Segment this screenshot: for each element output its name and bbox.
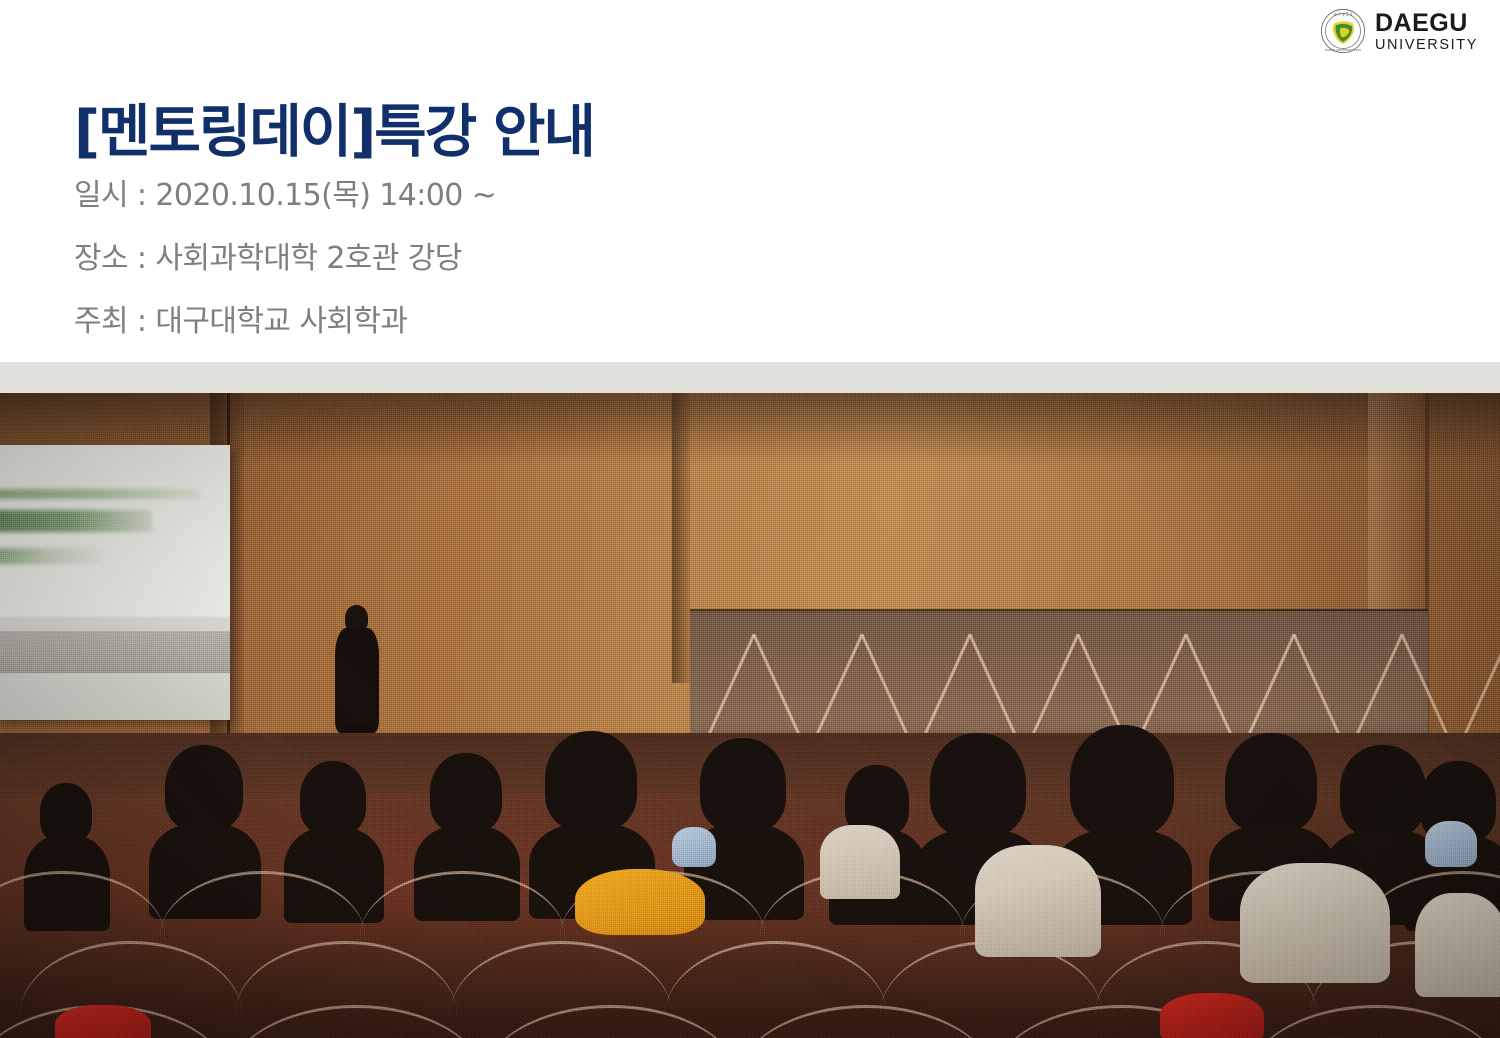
photo-audience-element <box>1425 821 1477 867</box>
event-info-datetime: 일시 : 2020.10.15(목) 14:00 ~ <box>74 170 496 214</box>
photo-audience-element <box>820 825 900 899</box>
university-logo: 대 구 대 학 교 DAEGU UNIVERSITY 1956 DAEGU UN… <box>1320 8 1478 54</box>
photo-audience-element <box>1160 993 1264 1038</box>
photo-screen-text-line-3 <box>0 548 104 564</box>
photo-audience-element <box>1070 725 1174 837</box>
photo-projection-screen <box>0 445 230 720</box>
photo-audience-element <box>930 733 1026 837</box>
photo-audience-element <box>545 731 637 831</box>
lecture-hall-photo <box>0 393 1500 1038</box>
photo-audience-element <box>672 827 716 867</box>
photo-screen-text-line-1 <box>0 489 200 499</box>
event-info-host: 주최 : 대구대학교 사회학과 <box>74 296 496 340</box>
photo-pillar-middle <box>672 393 690 683</box>
photo-audience-element <box>975 845 1101 957</box>
logo-wordmark: DAEGU UNIVERSITY <box>1375 10 1478 53</box>
photo-audience-element <box>575 869 705 935</box>
photo-audience-element <box>1340 745 1426 837</box>
photo-audience-element <box>165 745 243 831</box>
page-title: [멘토링데이]특강 안내 <box>74 86 594 168</box>
photo-screen-lower-shade <box>0 631 230 673</box>
photo-audience-element <box>55 1005 151 1038</box>
photo-audience-element <box>1415 893 1500 997</box>
photo-screen-text-line-2 <box>0 510 152 532</box>
logo-name-primary: DAEGU <box>1375 11 1478 36</box>
logo-name-secondary: UNIVERSITY <box>1375 38 1478 53</box>
daegu-university-emblem-icon: 대 구 대 학 교 DAEGU UNIVERSITY 1956 <box>1320 8 1366 54</box>
svg-text:대 구 대 학 교: 대 구 대 학 교 <box>1334 11 1353 16</box>
photo-audience-element <box>1225 733 1317 833</box>
event-info-location: 장소 : 사회과학대학 2호관 강당 <box>74 233 496 277</box>
photo-audience-element <box>1240 863 1390 983</box>
photo-audience-element <box>430 753 502 833</box>
photo-speaker-body <box>335 628 379 733</box>
svg-text:DAEGU UNIVERSITY 1956: DAEGU UNIVERSITY 1956 <box>1325 48 1361 52</box>
photo-audience-element <box>700 738 786 832</box>
photo-audience-element <box>300 761 366 835</box>
event-info-list: 일시 : 2020.10.15(목) 14:00 ~ 장소 : 사회과학대학 2… <box>74 170 496 359</box>
divider-band <box>0 362 1500 393</box>
photo-audience-element <box>40 783 92 843</box>
poster-header: 대 구 대 학 교 DAEGU UNIVERSITY 1956 DAEGU UN… <box>0 0 1500 362</box>
poster-root: 대 구 대 학 교 DAEGU UNIVERSITY 1956 DAEGU UN… <box>0 0 1500 1038</box>
